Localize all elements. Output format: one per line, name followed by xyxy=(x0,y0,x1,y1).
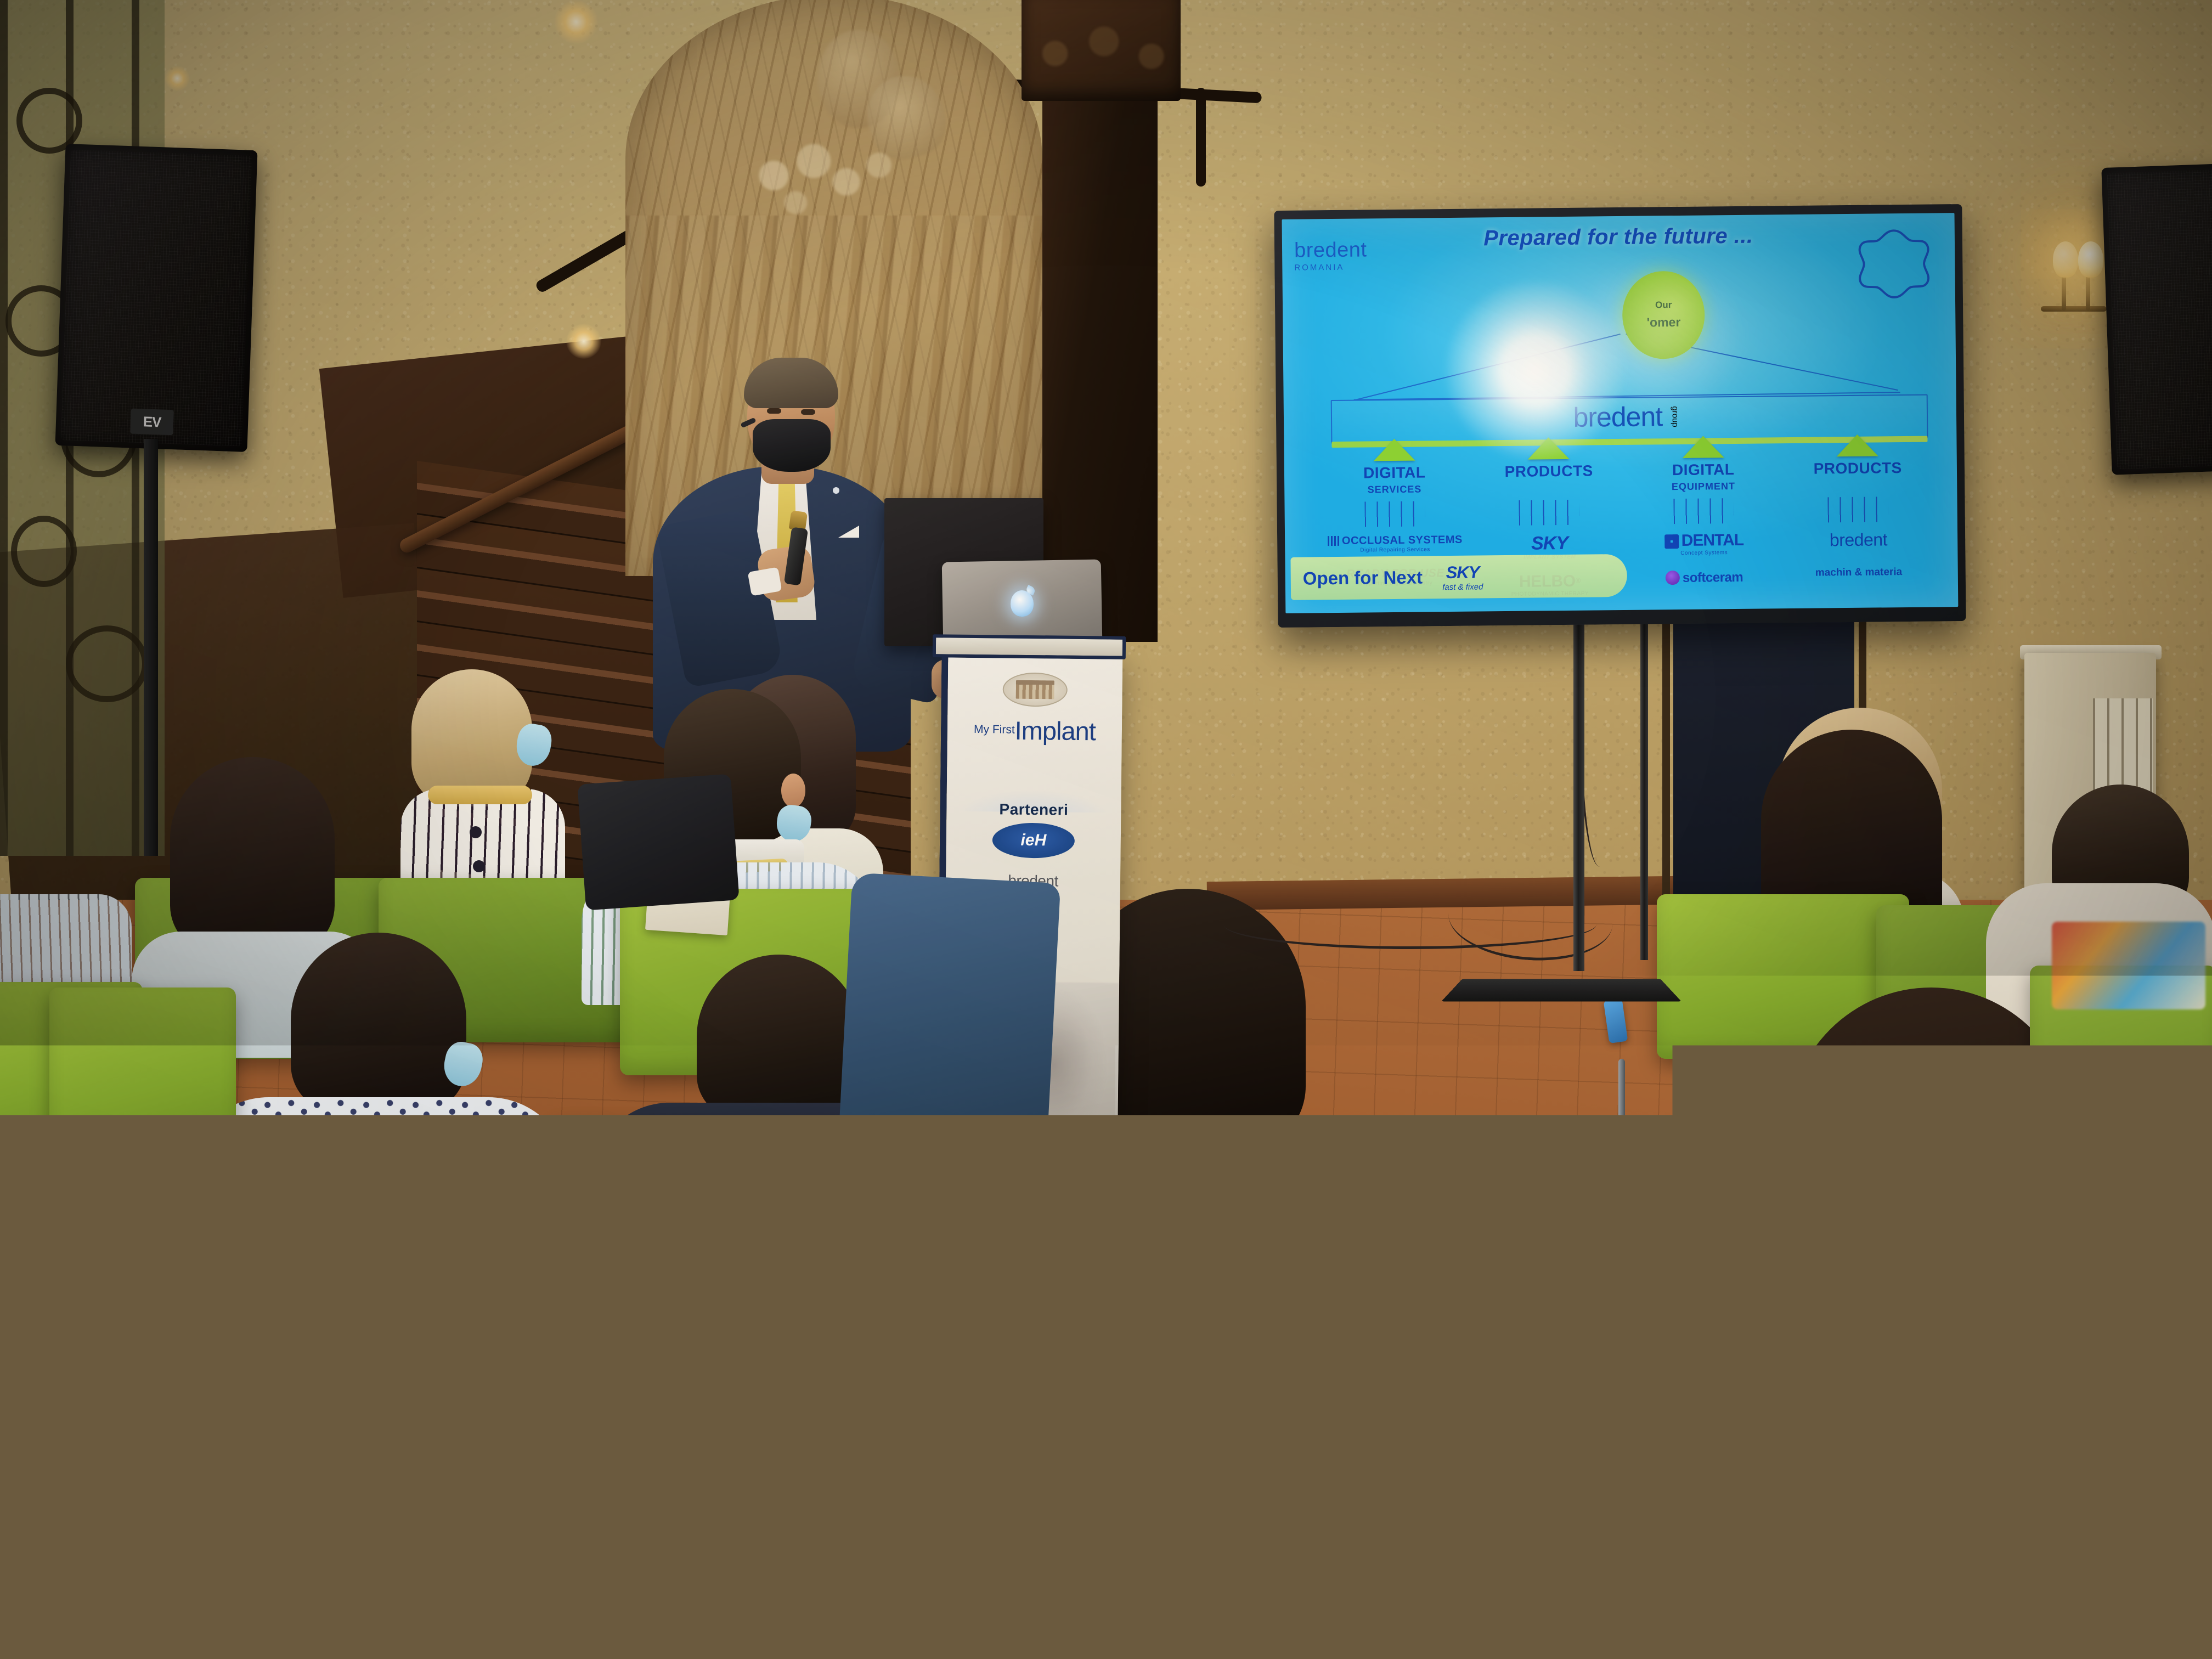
tick-marks-1 xyxy=(1364,501,1425,527)
audience-pd-hair xyxy=(291,933,466,1114)
column-digital-services: DIGITAL SERVICES OCCLUSAL SYSTEMS Digita… xyxy=(1317,438,1472,558)
macbook-laptop[interactable] xyxy=(942,559,1103,644)
machin-name: machin & materia xyxy=(1815,566,1903,579)
sconce-bulb-right xyxy=(2078,241,2103,278)
ieh-partner-logo: ieH xyxy=(992,822,1075,859)
sunglasses-icon xyxy=(1267,1293,1459,1324)
display-stand-pole xyxy=(1573,620,1584,971)
presentation-display[interactable]: Prepared for the future ... bredent ROMA… xyxy=(1274,204,1966,628)
customer-line-1: Our xyxy=(1655,300,1672,311)
audience-djc-hair xyxy=(697,955,861,1119)
our-customer-bubble: Our 'omer xyxy=(1622,270,1706,359)
column-heading-4: PRODUCTS xyxy=(1780,459,1935,478)
audience-bl-plaid xyxy=(0,1607,198,1659)
lectern-title-large: Implant xyxy=(1014,715,1096,747)
display-stand-base xyxy=(1441,979,1681,1002)
bredent-romania-subtitle: ROMANIA xyxy=(1294,262,1367,272)
display-stand-pole-secondary xyxy=(1640,620,1648,960)
triangle-icon-1 xyxy=(1373,439,1415,461)
column-subheading-3: EQUIPMENT xyxy=(1626,480,1781,494)
triangle-icon-2 xyxy=(1528,437,1570,460)
chair-middle-center[interactable] xyxy=(554,1119,949,1426)
occlusal-tagline: Digital Repairing Services xyxy=(1318,546,1472,554)
lectern-top xyxy=(933,634,1126,659)
waveform-icon xyxy=(1328,536,1340,546)
logo-machin-materia: machin & materia xyxy=(1781,566,1936,580)
ceiling-light-glow-a xyxy=(554,0,598,44)
speaker-grille-mesh-right xyxy=(2107,167,2212,470)
ceiling-light-glow-b xyxy=(566,324,601,359)
bag-under-lectern xyxy=(787,1532,935,1659)
column-capital xyxy=(1022,0,1181,101)
four-square-icon xyxy=(1664,534,1679,549)
softceram-name: softceram xyxy=(1683,570,1743,585)
column-digital-equipment: DIGITAL EQUIPMENT DENTAL Concept Systems… xyxy=(1626,435,1781,555)
audience-blonde-button-2 xyxy=(473,860,485,872)
denim-jacket-on-chair xyxy=(838,872,1061,1168)
logo-occlusal-systems: OCCLUSAL SYSTEMS Digital Repairing Servi… xyxy=(1318,534,1472,554)
colorful-items-right xyxy=(2052,922,2205,1009)
presenter-hair xyxy=(744,358,838,408)
sky-fast-fixed-logo: SKY fast & fixed xyxy=(1442,562,1483,592)
speaker-grille-mesh xyxy=(61,149,252,446)
stair-light-glow xyxy=(165,66,190,91)
sky-footer-tagline: fast & fixed xyxy=(1442,582,1483,592)
bredent-products-name: bredent xyxy=(1830,529,1887,550)
logo-softceram: softceram xyxy=(1627,569,1782,586)
presenter-eye-left xyxy=(767,408,781,414)
rail-post-b xyxy=(1196,88,1206,187)
triangle-icon-3 xyxy=(1682,436,1724,458)
audience-st-ear xyxy=(781,774,805,808)
triangle-icon-4 xyxy=(1837,435,1878,457)
audience-bottom-left-dotted-shirt xyxy=(181,1229,411,1415)
audience-blonde-collar xyxy=(428,786,532,804)
column-heading-3: DIGITAL xyxy=(1626,460,1781,479)
presenter-lapel-pin xyxy=(833,487,839,494)
logo-dental-concept: DENTAL Concept Systems xyxy=(1627,531,1781,557)
notebook-center[interactable] xyxy=(798,1386,933,1521)
purple-tooth-icon xyxy=(1666,571,1680,585)
apple-logo-icon xyxy=(1011,590,1034,617)
audience-front-sunglasses xyxy=(1141,1251,1558,1659)
pa-speaker-left: EV xyxy=(55,144,258,452)
bredent-wordmark: bredent xyxy=(1294,239,1367,261)
column-subheading-4 xyxy=(1781,479,1936,493)
audience-dk-hair xyxy=(170,757,335,955)
open-for-next-banner: Open for Next SKY fast & fixed xyxy=(1290,554,1627,600)
backpack-on-floor xyxy=(577,774,739,911)
sconce-bulb-left xyxy=(2053,241,2078,278)
university-crest-seal xyxy=(1002,672,1068,707)
bredent-group-wordmark: bredent xyxy=(1573,403,1662,432)
lectern-title-small: My First xyxy=(974,724,1015,736)
presenter-eye-right xyxy=(801,409,815,415)
dental-name: DENTAL xyxy=(1681,531,1744,550)
audience-fs-hair xyxy=(1207,1273,1514,1659)
pa-speaker-right xyxy=(2101,161,2212,475)
chair-leg-a xyxy=(1615,1278,1622,1476)
audience-blonde-button-1 xyxy=(470,826,482,838)
column-subheading-1: SERVICES xyxy=(1317,483,1472,497)
tick-marks-4 xyxy=(1828,496,1888,522)
lectern-event-title: My FirstImplant xyxy=(947,714,1122,746)
occlusal-name: OCCLUSAL SYSTEMS xyxy=(1342,534,1463,547)
slide-columns: DIGITAL SERVICES OCCLUSAL SYSTEMS Digita… xyxy=(1317,434,1936,558)
chair-leg-c xyxy=(1618,1059,1625,1201)
chair-middle-left-2[interactable] xyxy=(49,988,236,1174)
slide-canvas: Prepared for the future ... bredent ROMA… xyxy=(1282,213,1959,613)
tick-marks-2 xyxy=(1519,500,1579,526)
temple-building-icon xyxy=(1016,680,1054,699)
logo-bredent-products: bredent xyxy=(1781,529,1936,551)
chair-right-front-2[interactable] xyxy=(1931,1174,2212,1659)
column-subheading-2 xyxy=(1472,482,1627,495)
chair-leg-b xyxy=(1907,1196,1914,1361)
lectern-partners-label: Parteneri xyxy=(946,800,1121,819)
audience-bl-ear xyxy=(143,1432,187,1498)
column-heading-1: DIGITAL xyxy=(1317,464,1472,483)
tick-marks-3 xyxy=(1673,498,1734,524)
presenter-face-mask xyxy=(753,419,831,472)
ev-logo-badge: EV xyxy=(130,409,174,436)
sky-footer-name: SKY xyxy=(1442,562,1483,583)
open-for-next-label: Open for Next xyxy=(1303,567,1423,589)
sky-name: SKY xyxy=(1531,533,1568,554)
bredent-group-superscript: group xyxy=(1671,406,1680,427)
column-products-bredent: PRODUCTS bredent machin & materia xyxy=(1780,434,1936,554)
bredent-romania-logo: bredent ROMANIA xyxy=(1294,239,1367,272)
column-heading-2: PRODUCTS xyxy=(1471,462,1626,481)
relief-flowers xyxy=(734,134,915,238)
customer-line-2: 'omer xyxy=(1647,315,1681,330)
column-products-sky: PRODUCTS SKY IMPLANT SYSTEM HELBO® PHOTO… xyxy=(1471,437,1627,556)
conference-photo-scene: EV Prepared for the future ... bredent R… xyxy=(0,0,2212,1659)
tv-bezel: Prepared for the future ... bredent ROMA… xyxy=(1274,204,1966,628)
